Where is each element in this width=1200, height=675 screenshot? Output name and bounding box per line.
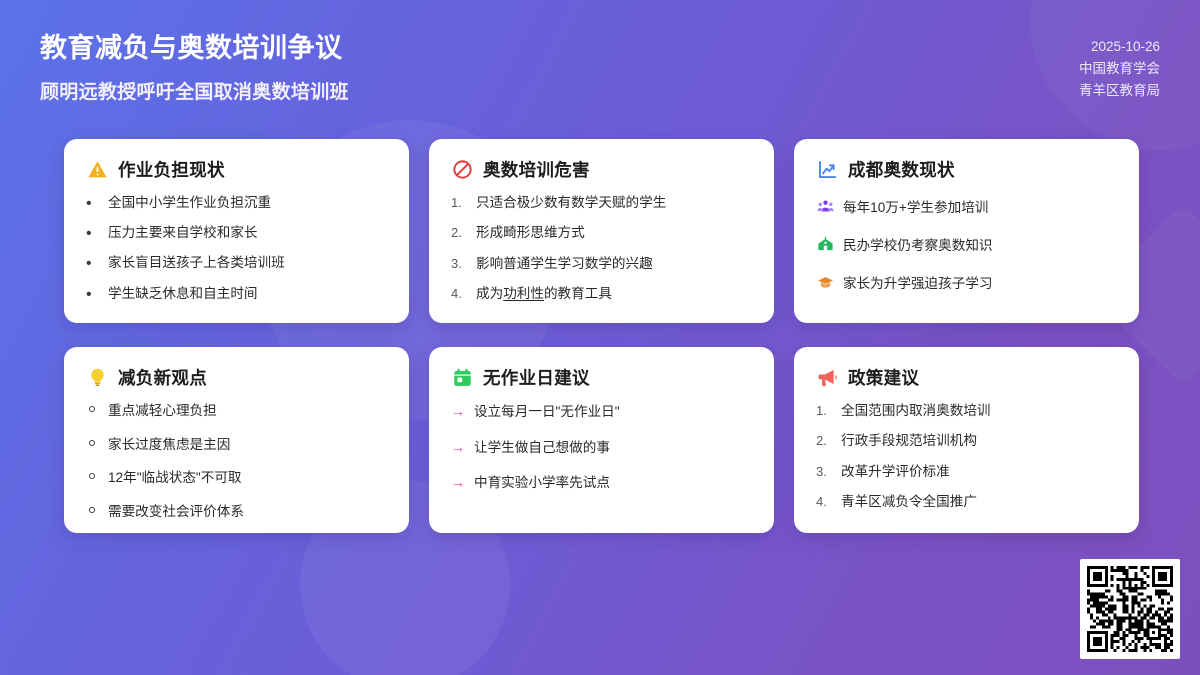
prohibited-icon [451,159,473,181]
list-item: 民办学校仍考察奥数知识 [816,232,1117,254]
list-item-text-pre: 成为 [476,286,503,301]
bullet-marker: • [86,256,99,272]
card-header: 政策建议 [816,365,1117,390]
graduation-cap-icon [816,273,834,291]
list-item-label: 家长为升学强迫孩子学习 [843,275,993,293]
card-title: 作业负担现状 [118,157,225,182]
list-item: • 家长盲目送孩子上各类培训班 [86,254,387,272]
arrow-marker-icon: → [451,402,465,420]
list-item: 家长过度焦虑是主因 [86,436,387,454]
poster-header: 教育减负与奥数培训争议 顾明远教授呼吁全国取消奥数培训班 2025-10-26 … [0,0,1200,128]
bullet-marker: • [86,287,99,303]
list-item-label: 压力主要来自学校和家长 [108,224,258,242]
ordinal-marker: 2. [451,225,467,242]
list-item: 1. 只适合极少数有数学天赋的学生 [451,194,752,212]
list-item-label: 12年"临战状态"不可取 [108,469,242,487]
card-title: 无作业日建议 [483,365,590,390]
list-item-label: 学生缺乏休息和自主时间 [108,285,258,303]
ordinal-marker: 3. [451,256,467,273]
list-item: 4. 青羊区减负令全国推广 [816,493,1117,511]
people-group-icon [816,197,834,215]
list-item-label: 民办学校仍考察奥数知识 [843,237,993,255]
ordinal-marker: 2. [816,433,832,450]
list-item-label: 让学生做自己想做的事 [474,439,610,457]
megaphone-icon [816,367,838,389]
list-item-label: 每年10万+学生参加培训 [843,199,988,217]
card-title: 奥数培训危害 [483,157,590,182]
list-item: → 中育实验小学率先试点 [451,473,752,492]
list-item-label: 家长过度焦虑是主因 [108,436,230,454]
list-item-emphasis: 功利性 [503,286,544,301]
list-item-label: 设立每月一日"无作业日" [474,403,620,421]
list-item-label: 重点减轻心理负担 [108,402,217,420]
card-policy-advice: 政策建议 1. 全国范围内取消奥数培训 2. 行政手段规范培训机构 3. 改革升… [794,347,1139,533]
list-item: → 让学生做自己想做的事 [451,438,752,457]
list-item-label: 需要改变社会评价体系 [108,503,244,521]
list-item: 3. 改革升学评价标准 [816,463,1117,481]
ordinal-marker: 1. [816,403,832,420]
card-title: 成都奥数现状 [848,157,955,182]
meta-date: 2025-10-26 [1079,36,1160,58]
list-item: 2. 行政手段规范培训机构 [816,432,1117,450]
card-header: 无作业日建议 [451,365,752,390]
card-header: 减负新观点 [86,365,387,390]
list-item-label: 家长盲目送孩子上各类培训班 [108,254,285,272]
list-item: • 学生缺乏休息和自主时间 [86,285,387,303]
card-chengdu-status: 成都奥数现状 每年10万+学生参加培训 [794,139,1139,323]
ring-bullet-marker [89,507,95,513]
list-item-label: 改革升学评价标准 [841,463,950,481]
card-new-viewpoint: 减负新观点 重点减轻心理负担 家长过度焦虑是主因 12年"临战状态"不可取 需 [64,347,409,533]
ordinal-marker: 4. [451,286,467,303]
arrow-marker-icon: → [451,438,465,456]
list-item-label: 青羊区减负令全国推广 [841,493,977,511]
ordinal-marker: 4. [816,494,832,511]
header-meta-block: 2025-10-26 中国教育学会 青羊区教育局 [1079,0,1160,102]
list-item: 家长为升学强迫孩子学习 [816,270,1117,292]
card-title: 减负新观点 [118,365,207,390]
card-grid: 作业负担现状 • 全国中小学生作业负担沉重 • 压力主要来自学校和家长 • 家长… [64,139,1139,533]
list-item: 每年10万+学生参加培训 [816,194,1117,216]
list-item: 12年"临战状态"不可取 [86,469,387,487]
card-header: 成都奥数现状 [816,157,1117,182]
list-item: 3. 影响普通学生学习数学的兴趣 [451,255,752,273]
meta-organization: 中国教育学会 [1079,58,1160,80]
list-item: 需要改变社会评价体系 [86,503,387,521]
list-item-label: 影响普通学生学习数学的兴趣 [476,255,653,273]
list-item: 4. 成为功利性的教育工具 [451,285,752,303]
lightbulb-icon [86,367,108,389]
list-item-label: 全国中小学生作业负担沉重 [108,194,271,212]
school-building-icon [816,235,834,253]
card-homework-burden: 作业负担现状 • 全国中小学生作业负担沉重 • 压力主要来自学校和家长 • 家长… [64,139,409,323]
ring-bullet-marker [89,406,95,412]
card-item-list: 1. 全国范围内取消奥数培训 2. 行政手段规范培训机构 3. 改革升学评价标准… [816,402,1117,511]
list-item: • 全国中小学生作业负担沉重 [86,194,387,212]
list-item-label: 中育实验小学率先试点 [474,474,610,492]
list-item-label: 形成畸形思维方式 [476,224,585,242]
bullet-marker: • [86,226,99,242]
card-item-list: 每年10万+学生参加培训 民办学校仍考察奥数知识 [816,194,1117,293]
card-header: 作业负担现状 [86,157,387,182]
list-item: 1. 全国范围内取消奥数培训 [816,402,1117,420]
list-item-text-post: 的教育工具 [544,286,612,301]
arrow-marker-icon: → [451,473,465,491]
card-item-list: • 全国中小学生作业负担沉重 • 压力主要来自学校和家长 • 家长盲目送孩子上各… [86,194,387,302]
qr-code-image [1087,566,1173,652]
card-header: 奥数培训危害 [451,157,752,182]
ring-bullet-marker [89,473,95,479]
card-item-list: → 设立每月一日"无作业日" → 让学生做自己想做的事 → 中育实验小学率先试点 [451,402,752,492]
card-title: 政策建议 [848,365,919,390]
warning-triangle-icon [86,159,108,181]
header-title-block: 教育减负与奥数培训争议 顾明远教授呼吁全国取消奥数培训班 [40,0,349,104]
list-item: → 设立每月一日"无作业日" [451,402,752,421]
page-title: 教育减负与奥数培训争议 [40,32,349,66]
list-item: 重点减轻心理负担 [86,402,387,420]
qr-code[interactable] [1080,559,1180,659]
card-olympiad-harm: 奥数培训危害 1. 只适合极少数有数学天赋的学生 2. 形成畸形思维方式 3. … [429,139,774,323]
calendar-icon [451,367,473,389]
ordinal-marker: 3. [816,464,832,481]
card-item-list: 1. 只适合极少数有数学天赋的学生 2. 形成畸形思维方式 3. 影响普通学生学… [451,194,752,303]
poster-stage: 教育减负与奥数培训争议 顾明远教授呼吁全国取消奥数培训班 2025-10-26 … [0,0,1200,675]
card-item-list: 重点减轻心理负担 家长过度焦虑是主因 12年"临战状态"不可取 需要改变社会评价… [86,402,387,521]
list-item-label: 成为功利性的教育工具 [476,285,612,303]
list-item-label: 行政手段规范培训机构 [841,432,977,450]
chart-increasing-icon [816,159,838,181]
card-no-homework-day: 无作业日建议 → 设立每月一日"无作业日" → 让学生做自己想做的事 → 中育实… [429,347,774,533]
list-item-label: 只适合极少数有数学天赋的学生 [476,194,666,212]
list-item-label: 全国范围内取消奥数培训 [841,402,991,420]
bullet-marker: • [86,196,99,212]
page-subtitle: 顾明远教授呼吁全国取消奥数培训班 [40,77,349,104]
ring-bullet-marker [89,440,95,446]
list-item: 2. 形成畸形思维方式 [451,224,752,242]
list-item: • 压力主要来自学校和家长 [86,224,387,242]
meta-department: 青羊区教育局 [1079,80,1160,102]
ordinal-marker: 1. [451,195,467,212]
